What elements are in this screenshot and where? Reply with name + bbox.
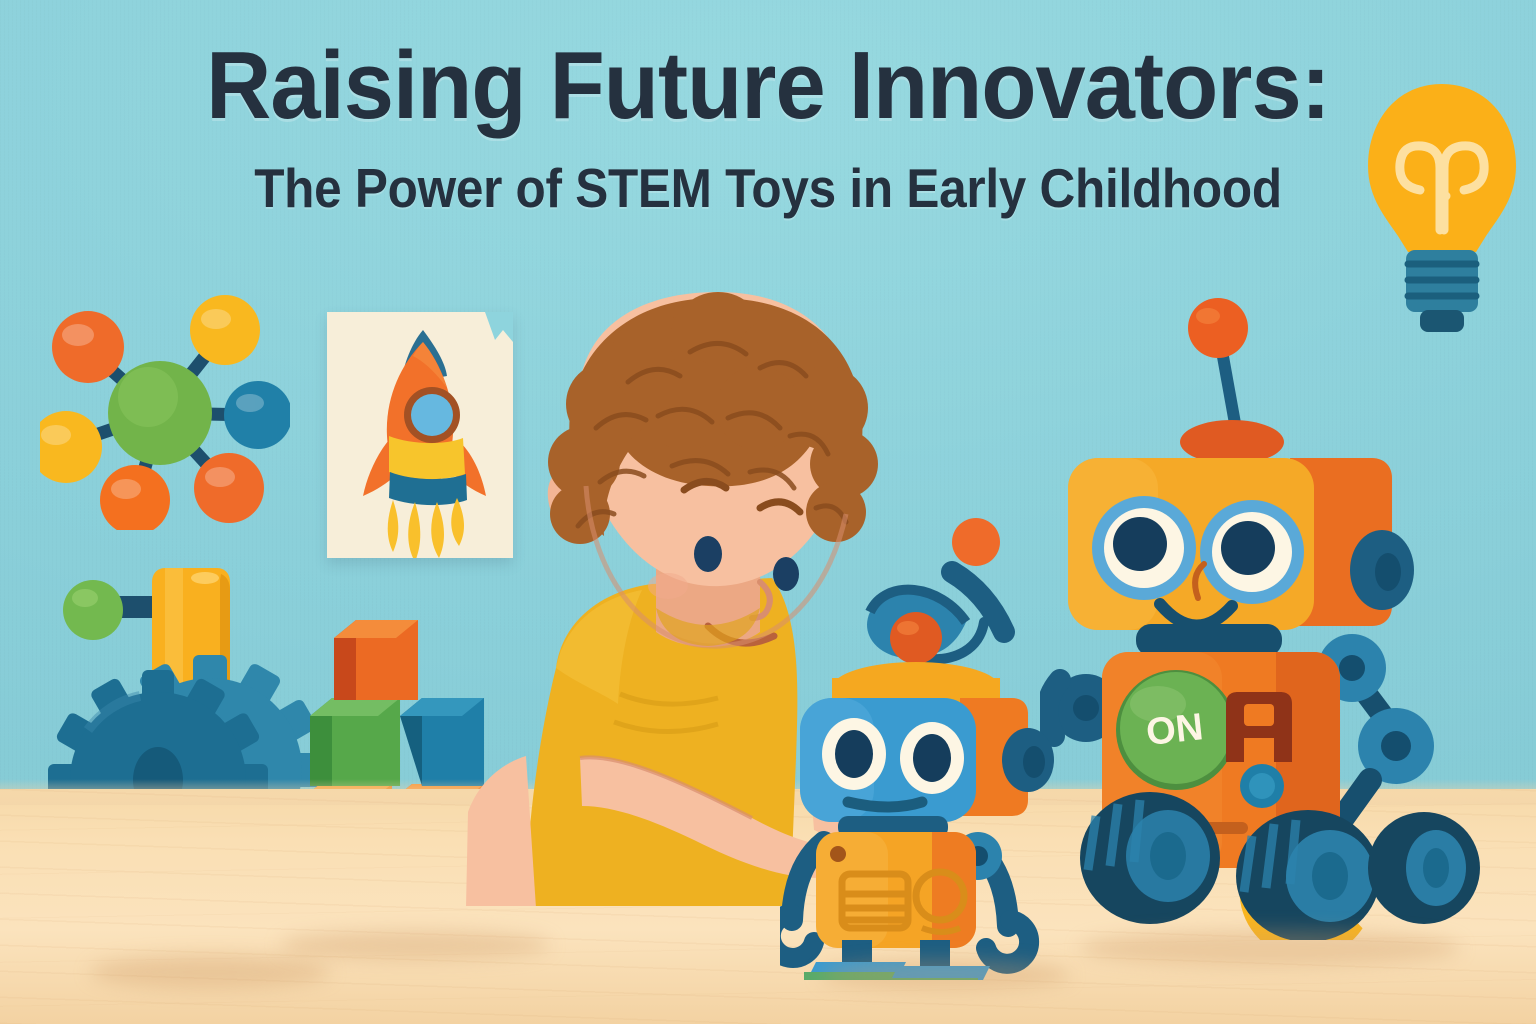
peg-ball bbox=[63, 580, 123, 640]
robot-neck bbox=[1136, 624, 1282, 656]
small-robot bbox=[780, 510, 1110, 980]
robot-eye-right bbox=[1200, 500, 1304, 604]
antenna-base bbox=[1180, 420, 1284, 464]
block-row-1 bbox=[334, 620, 418, 700]
atom-left bbox=[40, 411, 102, 483]
small-robot-eye-right bbox=[900, 722, 964, 794]
atom-right bbox=[224, 381, 290, 449]
illustration-canvas: Raising Future Innovators: The Power of … bbox=[0, 0, 1536, 1024]
molecule-model bbox=[40, 295, 290, 530]
atom-bottom bbox=[100, 465, 170, 530]
shadow-gear bbox=[90, 955, 330, 989]
child-eye-left bbox=[694, 536, 722, 572]
head-knob bbox=[890, 612, 942, 664]
atom-lower-right bbox=[194, 453, 264, 523]
atom-upper-left bbox=[52, 311, 124, 383]
antenna-ball bbox=[1188, 298, 1248, 358]
shadow-large-robot bbox=[1080, 930, 1460, 966]
small-robot-mouth bbox=[848, 802, 922, 807]
block-row-2 bbox=[310, 698, 484, 786]
shadow-small-robot bbox=[820, 960, 1070, 990]
shadow-blocks bbox=[280, 930, 550, 960]
small-robot-eye-left bbox=[822, 718, 886, 790]
power-button-label: ON bbox=[1144, 706, 1205, 754]
atom-upper-right bbox=[190, 295, 260, 365]
